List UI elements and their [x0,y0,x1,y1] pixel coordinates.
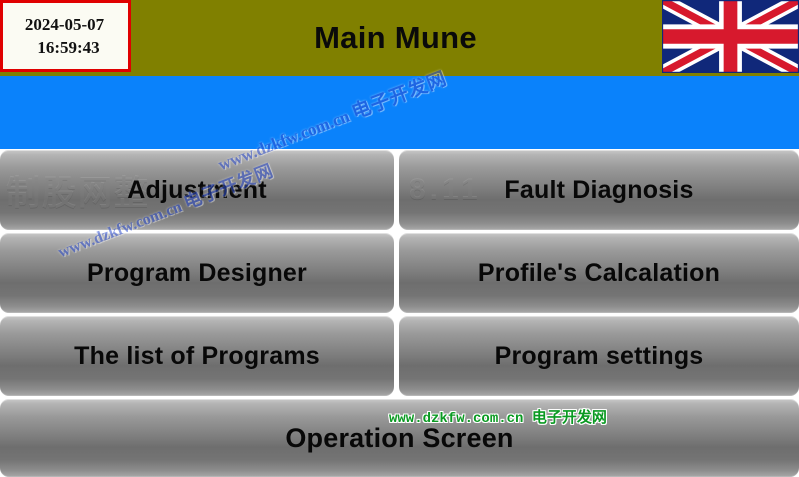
hmi-main-menu-screen: 2024-05-07 16:59:43 Main Mune 制股网整 Adjus… [0,0,799,477]
header-bar: 2024-05-07 16:59:43 Main Mune [0,0,799,76]
ghost-watermark-text: 8.11 [409,173,482,207]
program-settings-button-label: Program settings [495,342,704,371]
the-list-of-programs-button[interactable]: The list of Programs [0,316,394,396]
union-jack-flag-icon[interactable] [662,0,799,73]
operation-screen-button-label: Operation Screen [285,423,513,454]
operation-screen-button[interactable]: Operation Screen [0,399,799,477]
the-list-of-programs-button-label: The list of Programs [74,342,320,371]
adjustment-button-label: Adjustment [127,176,267,205]
status-bar [0,76,799,149]
page-title: Main Mune [131,0,660,76]
profiles-calcalation-button-label: Profile's Calcalation [478,259,720,288]
datetime-display: 2024-05-07 16:59:43 [0,0,131,72]
fault-diagnosis-button-label: Fault Diagnosis [504,176,693,205]
date-text: 2024-05-07 [25,16,104,33]
menu-button-grid: 制股网整 Adjustment 8.11 Fault Diagnosis Pro… [0,150,799,477]
profiles-calcalation-button[interactable]: Profile's Calcalation [399,233,799,313]
time-text: 16:59:43 [37,39,99,56]
program-designer-button[interactable]: Program Designer [0,233,394,313]
fault-diagnosis-button[interactable]: 8.11 Fault Diagnosis [399,150,799,230]
adjustment-button[interactable]: 制股网整 Adjustment [0,150,394,230]
program-settings-button[interactable]: Program settings [399,316,799,396]
program-designer-button-label: Program Designer [87,259,307,288]
